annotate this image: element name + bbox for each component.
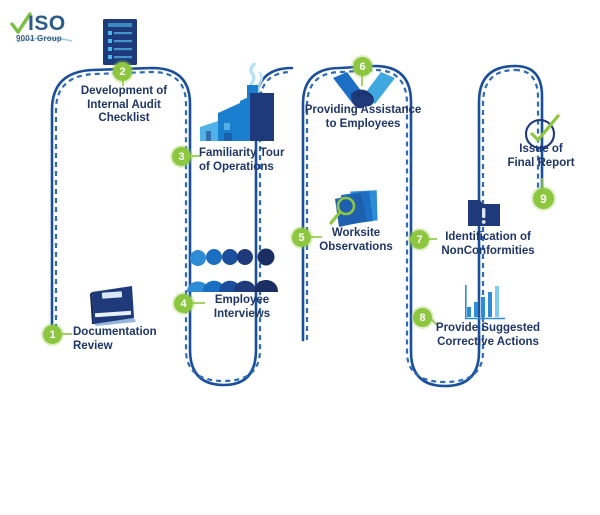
step-badge-6[interactable]: 6 — [353, 57, 372, 76]
magnifying-glass-documents-icon — [327, 187, 383, 240]
step-label-8: Provide Suggested Corrective Actions — [432, 322, 544, 349]
iso-9001-group-logo: ISO 9001 Group — [8, 12, 82, 46]
folder-alert-icon — [466, 196, 502, 233]
factory-icon — [188, 63, 284, 160]
step-badge-4[interactable]: 4 — [174, 294, 193, 313]
step-badge-1[interactable]: 1 — [43, 325, 62, 344]
handshake-icon — [331, 72, 397, 121]
logo-primary-text: ISO — [28, 12, 66, 36]
step-badge-9[interactable]: 9 — [533, 188, 554, 209]
bar-chart-icon — [463, 283, 507, 326]
step-label-7: Identification of NonConformities — [434, 231, 542, 258]
step-badge-7[interactable]: 7 — [410, 230, 429, 249]
step-label-2: Development of Internal Audit Checklist — [60, 85, 188, 126]
step-badge-2[interactable]: 2 — [113, 62, 132, 81]
check-circle-icon — [521, 113, 563, 158]
infographic-canvas: ISO 9001 Group — [0, 0, 600, 515]
step-badge-5[interactable]: 5 — [292, 228, 311, 247]
step-badge-8[interactable]: 8 — [413, 308, 432, 327]
step-badge-3[interactable]: 3 — [172, 147, 191, 166]
people-group-icon — [186, 248, 278, 299]
book-binder-icon — [88, 284, 138, 331]
logo-secondary-text: 9001 Group — [16, 34, 62, 43]
